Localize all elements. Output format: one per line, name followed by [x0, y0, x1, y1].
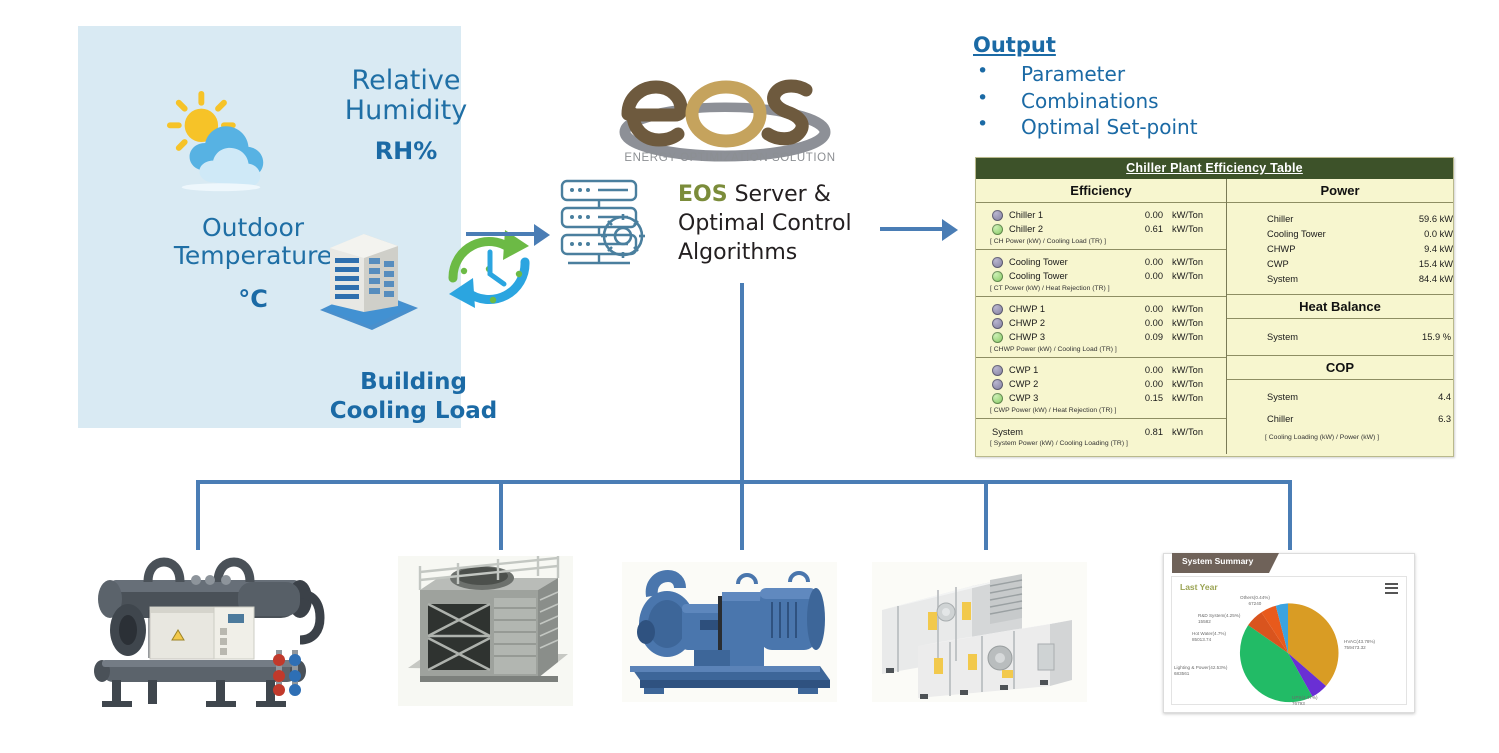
row-label: CHWP 1 — [1009, 304, 1121, 314]
pie-label-others: Others(0.44%)67240 — [1240, 595, 1270, 607]
row-label: CHWP 2 — [1009, 318, 1121, 328]
table-row: CWP 1 0.00 kW/Ton — [976, 363, 1226, 377]
group-note: [ CWP Power (kW) / Heat Rejection (TR) ] — [976, 405, 1226, 416]
table-row: CWP 3 0.15 kW/Ton — [976, 391, 1226, 405]
row-value: 15.4 kW — [1375, 259, 1453, 269]
table-row: CHWP 1 0.00 kW/Ton — [976, 302, 1226, 316]
row-value: 15.9 % — [1375, 332, 1451, 342]
relative-humidity-value: RH% — [316, 138, 496, 165]
table-row: System 0.81 kW/Ton — [976, 424, 1226, 438]
efficiency-group-cwp: CWP 1 0.00 kW/Ton CWP 2 0.00 kW/Ton CWP … — [976, 358, 1226, 419]
connector-drop-chiller — [196, 480, 200, 550]
table-row: Chiller 59.6 kW — [1227, 211, 1453, 226]
row-label: System — [1227, 392, 1375, 402]
output-title: Output — [973, 33, 1273, 57]
cop-note: [ Cooling Loading (kW) / Power (kW) ] — [1227, 430, 1453, 443]
row-value: 6.3 — [1375, 414, 1451, 424]
eos-server-title: EOS Server & Optimal Control Algorithms — [678, 180, 918, 267]
row-unit: kW/Ton — [1163, 304, 1226, 314]
connector-drop-cooling-tower — [499, 480, 503, 550]
power-column: Power Chiller 59.6 kW Cooling Tower 0.0 … — [1227, 179, 1453, 454]
table-row: Cooling Tower 0.00 kW/Ton — [976, 255, 1226, 269]
cop-heading: COP — [1227, 356, 1453, 380]
table-row: CWP 15.4 kW — [1227, 257, 1453, 272]
table-row: Cooling Tower 0.0 kW — [1227, 226, 1453, 241]
table-title: Chiller Plant Efficiency Table — [976, 158, 1453, 179]
heat-balance-heading: Heat Balance — [1227, 295, 1453, 319]
connector-drop-pump — [740, 480, 744, 550]
output-item-parameter: Parameter — [973, 61, 1273, 88]
row-label: CWP 3 — [1009, 393, 1121, 403]
sun-cloud-icon — [162, 88, 280, 198]
connector-eos-vertical — [740, 283, 744, 483]
row-value: 9.4 kW — [1375, 244, 1453, 254]
row-unit: kW/Ton — [1163, 210, 1226, 220]
row-value: 0.09 — [1121, 332, 1163, 342]
row-label: System — [1227, 332, 1375, 342]
hamburger-menu-icon[interactable] — [1385, 583, 1398, 596]
connector-bus-horizontal — [196, 480, 1292, 484]
row-value: 0.00 — [1121, 304, 1163, 314]
row-unit: kW/Ton — [1163, 271, 1226, 281]
row-label: Cooling Tower — [1009, 271, 1121, 281]
row-value: 0.81 — [1121, 427, 1163, 437]
table-row: System 84.4 kW — [1227, 272, 1453, 287]
status-indicator-icon — [992, 210, 1003, 221]
eos-tagline: ENERGY OPTIMIZATION SOLUTION — [595, 152, 865, 164]
efficiency-group-cooling-tower: Cooling Tower 0.00 kW/Ton Cooling Tower … — [976, 250, 1226, 297]
input-parameters-panel: RelativeHumidity RH% OutdoorTemperature … — [78, 26, 461, 428]
row-label: Chiller 2 — [1009, 224, 1121, 234]
row-value: 0.00 — [1121, 257, 1163, 267]
pie-label-hot-water: Hot Water(4.7%)85013.74 — [1192, 631, 1226, 643]
row-value: 0.00 — [1121, 318, 1163, 328]
row-label: Cooling Tower — [1227, 229, 1375, 239]
chiller-plant-efficiency-table: Chiller Plant Efficiency Table Efficienc… — [975, 157, 1454, 457]
dashboard-tab[interactable]: System Summary — [1172, 553, 1269, 573]
group-note: [ CH Power (kW) / Cooling Load (TR) ] — [976, 236, 1226, 247]
table-row: CWP 2 0.00 kW/Ton — [976, 377, 1226, 391]
chiller-photo — [88, 552, 333, 712]
row-value: 0.0 kW — [1375, 229, 1453, 239]
row-label: CWP 1 — [1009, 365, 1121, 375]
row-unit: kW/Ton — [1163, 379, 1226, 389]
row-label: CHWP 3 — [1009, 332, 1121, 342]
server-icon — [558, 178, 660, 268]
output-block: Output Parameter Combinations Optimal Se… — [973, 33, 1273, 141]
status-indicator-icon — [992, 224, 1003, 235]
eos-server-title-line3: Algorithms — [678, 240, 797, 265]
table-row: Chiller 2 0.61 kW/Ton — [976, 222, 1226, 236]
efficiency-group-chiller: Chiller 1 0.00 kW/Ton Chiller 2 0.61 kW/… — [976, 203, 1226, 250]
table-row: System 4.4 — [1227, 386, 1453, 408]
row-label: CHWP — [1227, 244, 1375, 254]
row-unit: kW/Ton — [1163, 365, 1226, 375]
dashboard-card[interactable]: System Summary Last Year Others(0.44%)67… — [1163, 553, 1415, 713]
pie-label-ups: UPS(4.47%)76793 — [1292, 695, 1318, 707]
power-rows: Chiller 59.6 kW Cooling Tower 0.0 kW CHW… — [1227, 203, 1453, 295]
group-note: [ System Power (kW) / Cooling Loading (T… — [976, 438, 1226, 449]
row-label: Chiller — [1227, 414, 1375, 424]
row-label: System — [976, 427, 1121, 437]
status-indicator-icon — [992, 257, 1003, 268]
efficiency-group-chwp: CHWP 1 0.00 kW/Ton CHWP 2 0.00 kW/Ton CH… — [976, 297, 1226, 358]
status-indicator-icon — [992, 365, 1003, 376]
pie-label-hvac: HVAC(43.78%)759473.32 — [1344, 639, 1375, 651]
building-icon — [306, 214, 426, 334]
eos-server-title-line2: Optimal Control — [678, 211, 852, 236]
cop-rows: System 4.4 Chiller 6.3 [ Cooling Loading… — [1227, 380, 1453, 443]
row-label: Cooling Tower — [1009, 257, 1121, 267]
eos-server-title-rest: Server & — [728, 182, 831, 207]
status-indicator-icon — [992, 304, 1003, 315]
row-label: CWP — [1227, 259, 1375, 269]
eos-server-title-accent: EOS — [678, 182, 728, 207]
pie-label-rnd-system: R&D System(4.25%)15582 — [1198, 613, 1240, 625]
dashboard-period-label: Last Year — [1180, 582, 1218, 592]
table-row: CHWP 3 0.09 kW/Ton — [976, 330, 1226, 344]
row-value: 0.00 — [1121, 365, 1163, 375]
row-label: System — [1227, 274, 1375, 284]
efficiency-column: Efficiency Chiller 1 0.00 kW/Ton Chiller… — [976, 179, 1227, 454]
energy-breakdown-pie-chart — [1234, 599, 1342, 707]
status-indicator-icon — [992, 379, 1003, 390]
row-value: 84.4 kW — [1375, 274, 1453, 284]
row-value: 59.6 kW — [1375, 214, 1453, 224]
row-value: 0.00 — [1121, 210, 1163, 220]
row-unit: kW/Ton — [1163, 332, 1226, 342]
row-unit: kW/Ton — [1163, 224, 1226, 234]
status-indicator-icon — [992, 393, 1003, 404]
pump-photo — [622, 562, 837, 702]
power-heading: Power — [1227, 179, 1453, 203]
building-cooling-load-label: BuildingCooling Load — [306, 368, 521, 426]
cooling-tower-photo — [398, 556, 573, 706]
table-row: Chiller 1 0.00 kW/Ton — [976, 208, 1226, 222]
row-value: 0.61 — [1121, 224, 1163, 234]
status-indicator-icon — [992, 332, 1003, 343]
row-unit: kW/Ton — [1163, 257, 1226, 267]
ahu-photo — [872, 562, 1087, 702]
table-row: Chiller 6.3 — [1227, 408, 1453, 430]
status-indicator-icon — [992, 271, 1003, 282]
efficiency-system-group: System 0.81 kW/Ton [ System Power (kW) /… — [976, 419, 1226, 451]
row-value: 0.00 — [1121, 271, 1163, 281]
heat-balance-rows: System 15.9 % — [1227, 319, 1453, 356]
table-row: Cooling Tower 0.00 kW/Ton — [976, 269, 1226, 283]
table-row: CHWP 9.4 kW — [1227, 241, 1453, 256]
table-row: System 15.9 % — [1227, 326, 1453, 348]
row-value: 4.4 — [1375, 392, 1451, 402]
group-note: [ CT Power (kW) / Heat Rejection (TR) ] — [976, 283, 1226, 294]
group-note: [ CHWP Power (kW) / Cooling Load (TR) ] — [976, 344, 1226, 355]
row-value: 0.00 — [1121, 379, 1163, 389]
output-item-optimal-setpoint: Optimal Set-point — [973, 114, 1273, 141]
row-label: CWP 2 — [1009, 379, 1121, 389]
efficiency-heading: Efficiency — [976, 179, 1226, 203]
dashboard-body: Last Year Others(0.44%)67240 R&D System(… — [1171, 576, 1407, 705]
output-list: Parameter Combinations Optimal Set-point — [973, 61, 1273, 141]
connector-drop-ahu — [984, 480, 988, 550]
row-unit: kW/Ton — [1163, 318, 1226, 328]
row-label: Chiller 1 — [1009, 210, 1121, 220]
pie-label-lighting-power: Lighting & Power(42.53%)683561 — [1174, 665, 1227, 677]
row-unit: kW/Ton — [1163, 393, 1226, 403]
connector-drop-dashboard — [1288, 480, 1292, 550]
table-row: CHWP 2 0.00 kW/Ton — [976, 316, 1226, 330]
row-unit: kW/Ton — [1163, 427, 1226, 437]
output-item-combinations: Combinations — [973, 88, 1273, 115]
status-indicator-icon — [992, 318, 1003, 329]
row-label: Chiller — [1227, 214, 1375, 224]
relative-humidity-label: RelativeHumidity — [316, 66, 496, 126]
row-value: 0.15 — [1121, 393, 1163, 403]
